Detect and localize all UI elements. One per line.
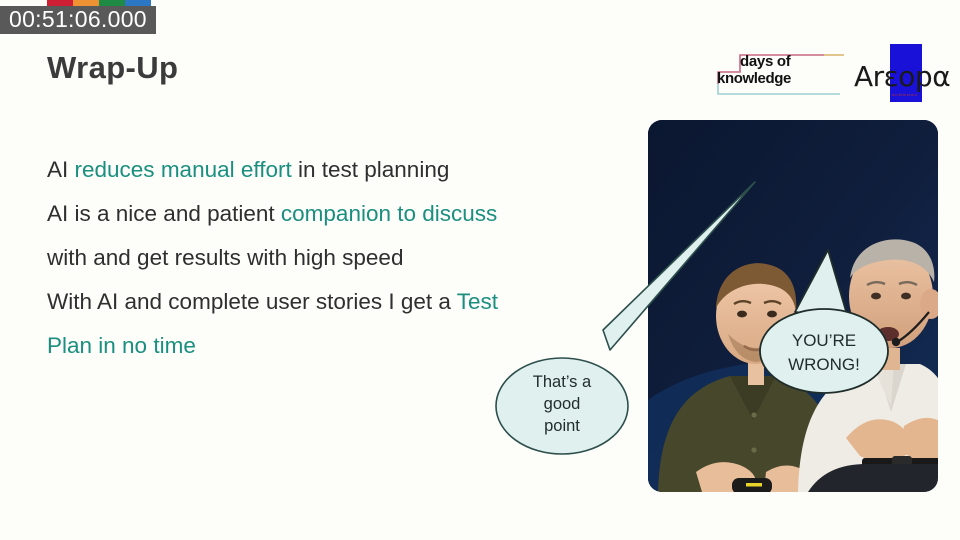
bubble-youre-wrong-text: YOU’REWRONG! xyxy=(768,329,880,377)
areopa-tagline: architecture xyxy=(892,92,918,97)
days-of-knowledge-logo: days of knowledge xyxy=(712,50,852,100)
slide-body-line: AI reduces manual effort in test plannin… xyxy=(47,148,627,192)
slide-body-line: Plan in no time xyxy=(47,324,627,368)
dok-line1: days of xyxy=(740,53,790,70)
highlighted-phrase: companion to discuss xyxy=(281,201,497,226)
areopa-wordmark: Arεopα xyxy=(854,60,950,93)
areopa-logo: Arεopα architecture xyxy=(854,44,942,106)
slide-body-line: With AI and complete user stories I get … xyxy=(47,280,627,324)
days-of-knowledge-wordmark: days of knowledge xyxy=(740,53,791,87)
logo-group: days of knowledge Arεopα architecture xyxy=(712,44,942,106)
bubble-line: point xyxy=(500,415,624,437)
slide-canvas: 00:51:06.000 Wrap-Up days of knowledge A… xyxy=(0,0,960,540)
page-title: Wrap-Up xyxy=(47,50,178,86)
bubble-line: That’s a xyxy=(500,371,624,393)
video-timestamp: 00:51:06.000 xyxy=(0,6,156,34)
body-phrase: AI is a nice and patient xyxy=(47,201,281,226)
speakers-photo-illustration xyxy=(648,120,938,492)
highlighted-phrase: reduces manual effort xyxy=(75,157,292,182)
body-phrase: in test planning xyxy=(292,157,450,182)
slide-body-text: AI reduces manual effort in test plannin… xyxy=(47,148,627,368)
bubble-thats-a-good-point-text: That’s agoodpoint xyxy=(500,371,624,437)
highlighted-phrase: Plan in no time xyxy=(47,333,196,358)
dok-line2: knowledge xyxy=(717,70,791,87)
bubble-line: YOU’RE xyxy=(768,329,880,353)
body-phrase: with and get results with high speed xyxy=(47,245,403,270)
body-phrase: With AI and complete user stories I get … xyxy=(47,289,457,314)
slide-body-line: AI is a nice and patient companion to di… xyxy=(47,192,627,236)
highlighted-phrase: Test xyxy=(457,289,498,314)
slide-body-line: with and get results with high speed xyxy=(47,236,627,280)
bubble-line: WRONG! xyxy=(768,353,880,377)
body-phrase: AI xyxy=(47,157,75,182)
bubble-line: good xyxy=(500,393,624,415)
speakers-photo xyxy=(648,120,938,492)
